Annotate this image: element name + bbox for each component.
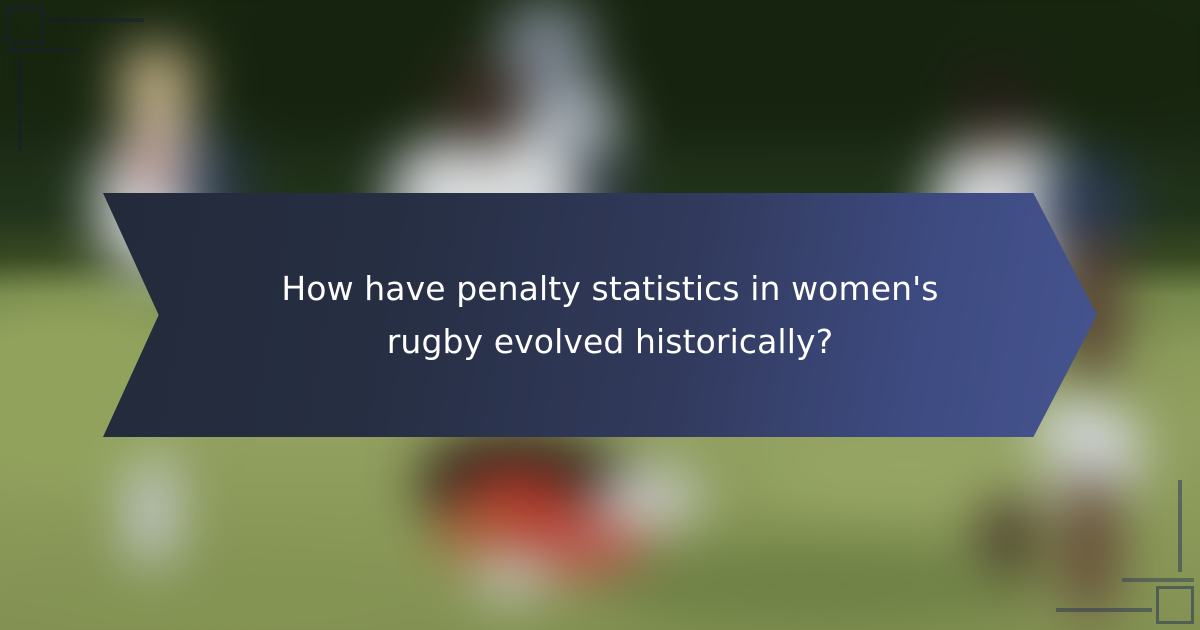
corner-bracket-bottom-right xyxy=(1050,480,1200,630)
corner-line-horizontal xyxy=(48,18,144,22)
corner-square-icon xyxy=(6,6,44,44)
page-title: How have penalty statistics in women's r… xyxy=(233,262,987,369)
corner-line-horizontal-short xyxy=(1122,578,1194,582)
corner-line-vertical xyxy=(18,58,22,150)
corner-line-vertical xyxy=(1178,480,1182,572)
headline-ribbon: How have penalty statistics in women's r… xyxy=(103,193,1097,437)
share-card: How have penalty statistics in women's r… xyxy=(0,0,1200,630)
corner-line-horizontal-short xyxy=(6,48,78,52)
corner-square-icon xyxy=(1156,586,1194,624)
corner-line-horizontal xyxy=(1056,608,1152,612)
corner-bracket-top-left xyxy=(0,0,150,150)
